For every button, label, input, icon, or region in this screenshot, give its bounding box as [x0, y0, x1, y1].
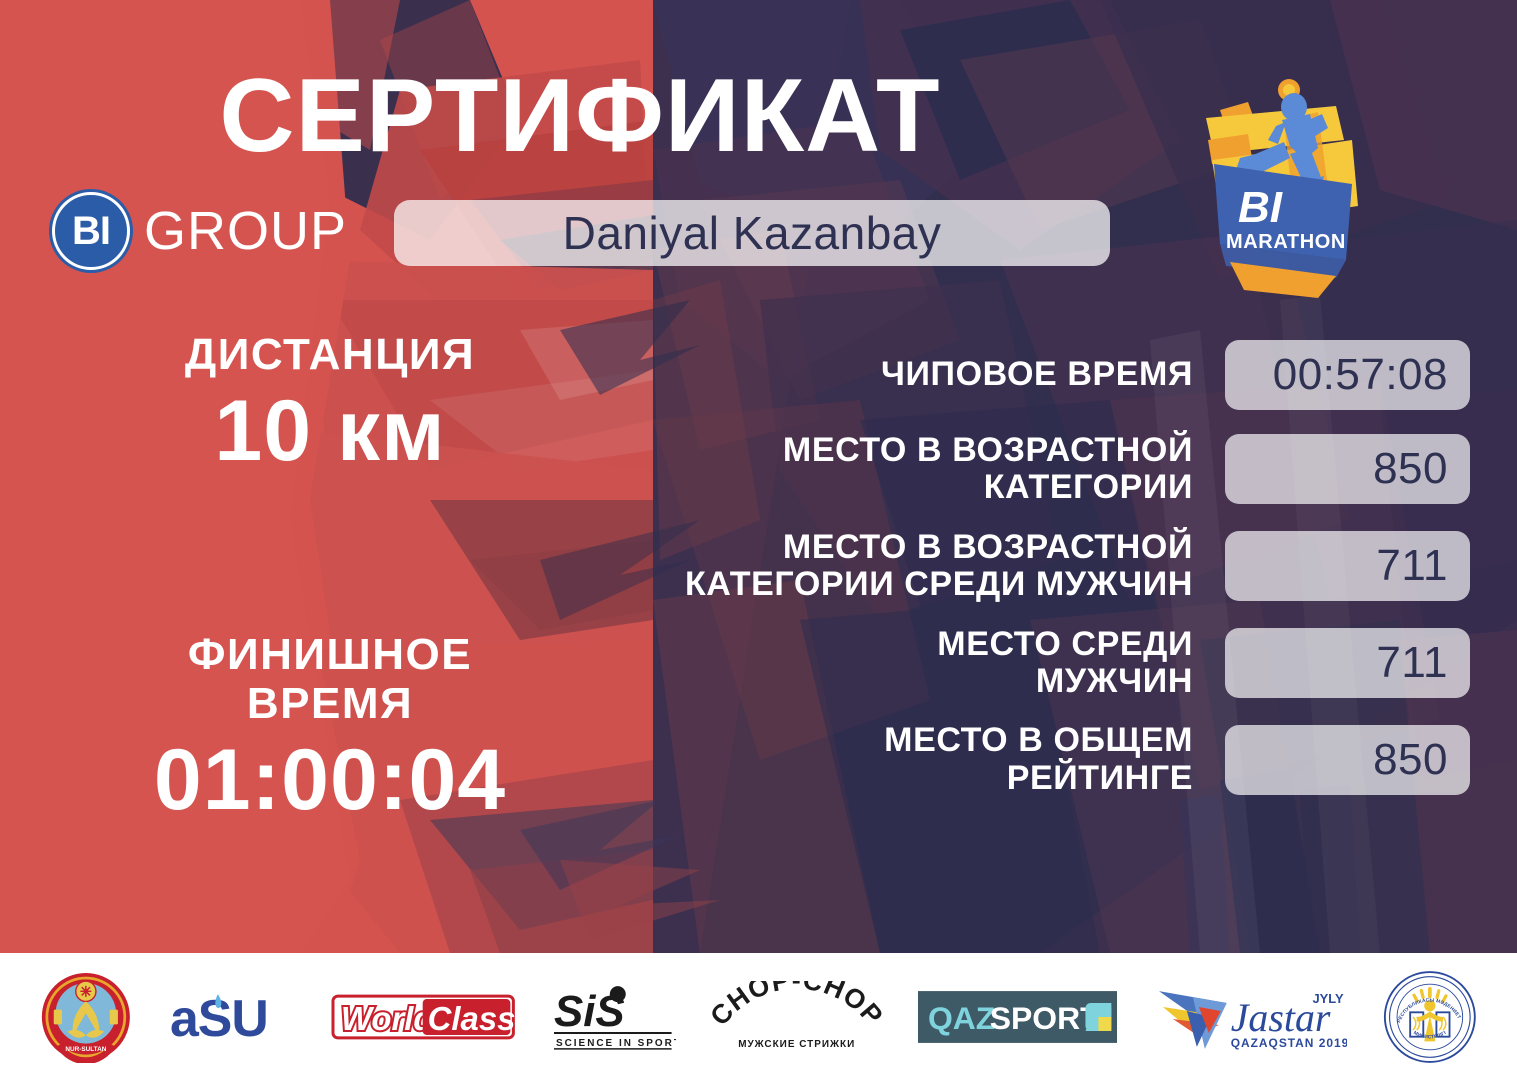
stat-value: 711	[1376, 544, 1448, 588]
stat-value-pill: 711	[1225, 531, 1470, 601]
sponsor-bar: NUR-SULTAN aSU World Class SiS	[0, 953, 1517, 1080]
stat-value-pill: 00:57:08	[1225, 340, 1470, 410]
finish-time-label: ФИНИШНОЕ ВРЕМЯ	[60, 630, 600, 729]
stat-label: МЕСТО В ВОЗРАСТНОЙ КАТЕГОРИИ	[600, 432, 1225, 507]
left-column-spacer	[60, 480, 600, 630]
stat-row-overall-place: МЕСТО В ОБЩЕМ РЕЙТИНГЕ 850	[600, 722, 1470, 797]
sponsor-nur-sultan-text: NUR-SULTAN	[65, 1045, 106, 1052]
bi-group-word: GROUP	[144, 204, 347, 258]
stat-label: МЕСТО В ВОЗРАСТНОЙ КАТЕГОРИИ СРЕДИ МУЖЧИ…	[600, 529, 1225, 604]
bi-badge-label: BI	[72, 211, 110, 251]
distance-block: ДИСТАНЦИЯ 10 км	[60, 330, 600, 480]
distance-label: ДИСТАНЦИЯ	[60, 330, 600, 379]
stat-value-pill: 850	[1225, 725, 1470, 795]
stats-list: ЧИПОВОЕ ВРЕМЯ 00:57:08 МЕСТО В ВОЗРАСТНО…	[600, 340, 1470, 819]
sponsor-class-text: Class	[428, 999, 516, 1036]
stat-label: ЧИПОВОЕ ВРЕМЯ	[600, 356, 1225, 393]
finish-time-block: ФИНИШНОЕ ВРЕМЯ 01:00:04	[60, 630, 600, 829]
stat-row-age-category-men-place: МЕСТО В ВОЗРАСТНОЙ КАТЕГОРИИ СРЕДИ МУЖЧИ…	[600, 529, 1470, 604]
sponsor-qazsport: QAZ SPORT	[918, 991, 1117, 1043]
sponsor-jastar-sub: QAZAQSTAN 2019	[1231, 1035, 1348, 1049]
left-summary-column: ДИСТАНЦИЯ 10 км ФИНИШНОЕ ВРЕМЯ 01:00:04	[60, 330, 600, 828]
sponsor-jastar: Jastar JYLY QAZAQSTAN 2019	[1153, 977, 1347, 1057]
bi-marathon-word-text: MARATHON	[1226, 231, 1346, 253]
sponsor-asu: aSU	[168, 986, 296, 1048]
stat-label: МЕСТО В ОБЩЕМ РЕЙТИНГЕ	[600, 722, 1225, 797]
certificate-title: СЕРТИФИКАТ	[0, 62, 1160, 171]
stat-label: МЕСТО СРЕДИ МУЖЧИН	[600, 626, 1225, 701]
sponsor-qaz-text: QAZ	[928, 999, 995, 1035]
bi-badge-icon: BI	[52, 192, 130, 270]
sponsor-sis: SiS SCIENCE IN SPORT	[552, 984, 677, 1050]
sponsor-world-text: World	[341, 999, 434, 1036]
stat-value: 850	[1373, 447, 1448, 491]
bi-marathon-bi-text: BI	[1238, 183, 1283, 232]
distance-value: 10 км	[60, 383, 600, 479]
stat-value: 711	[1376, 641, 1448, 685]
stat-row-chip-time: ЧИПОВОЕ ВРЕМЯ 00:57:08	[600, 340, 1470, 410]
stat-value-pill: 711	[1225, 628, 1470, 698]
certificate-canvas: СЕРТИФИКАТ BI GROUP Daniyal Kazanbay	[0, 0, 1517, 1080]
participant-name: Daniyal Kazanbay	[563, 210, 942, 256]
sponsor-chop-sub: МУЖСКИЕ СТРИЖКИ	[738, 1038, 855, 1049]
sponsor-chop-chop: CHOP-CHOP МУЖСКИЕ СТРИЖКИ	[712, 981, 881, 1053]
stat-value: 00:57:08	[1273, 353, 1448, 397]
stat-row-men-place: МЕСТО СРЕДИ МУЖЧИН 711	[600, 626, 1470, 701]
sponsor-jastar-sup: JYLY	[1312, 991, 1344, 1006]
participant-name-plate: Daniyal Kazanbay	[394, 200, 1110, 266]
sponsor-sis-sub: SCIENCE IN SPORT	[556, 1037, 677, 1048]
sponsor-sport-text: SPORT	[989, 999, 1099, 1035]
bi-group-logo: BI GROUP	[52, 192, 347, 270]
sponsor-world-class: World Class	[331, 988, 515, 1046]
stat-row-age-category-place: МЕСТО В ВОЗРАСТНОЙ КАТЕГОРИИ 850	[600, 432, 1470, 507]
finish-time-value: 01:00:04	[60, 732, 600, 828]
sponsor-chop-text: CHOP-CHOP	[712, 981, 881, 1031]
stat-value-pill: 850	[1225, 434, 1470, 504]
bi-marathon-logo: BI MARATHON	[1186, 62, 1376, 310]
stat-value: 850	[1373, 738, 1448, 782]
sponsor-min-sport-emblem: ҚАЗАҚСТАН РЕСПУБЛИКАСЫ МӘДЕНИЕТ ЖӘНЕ СПО…	[1383, 970, 1477, 1064]
sponsor-nur-sultan-emblem: NUR-SULTAN	[40, 971, 132, 1063]
